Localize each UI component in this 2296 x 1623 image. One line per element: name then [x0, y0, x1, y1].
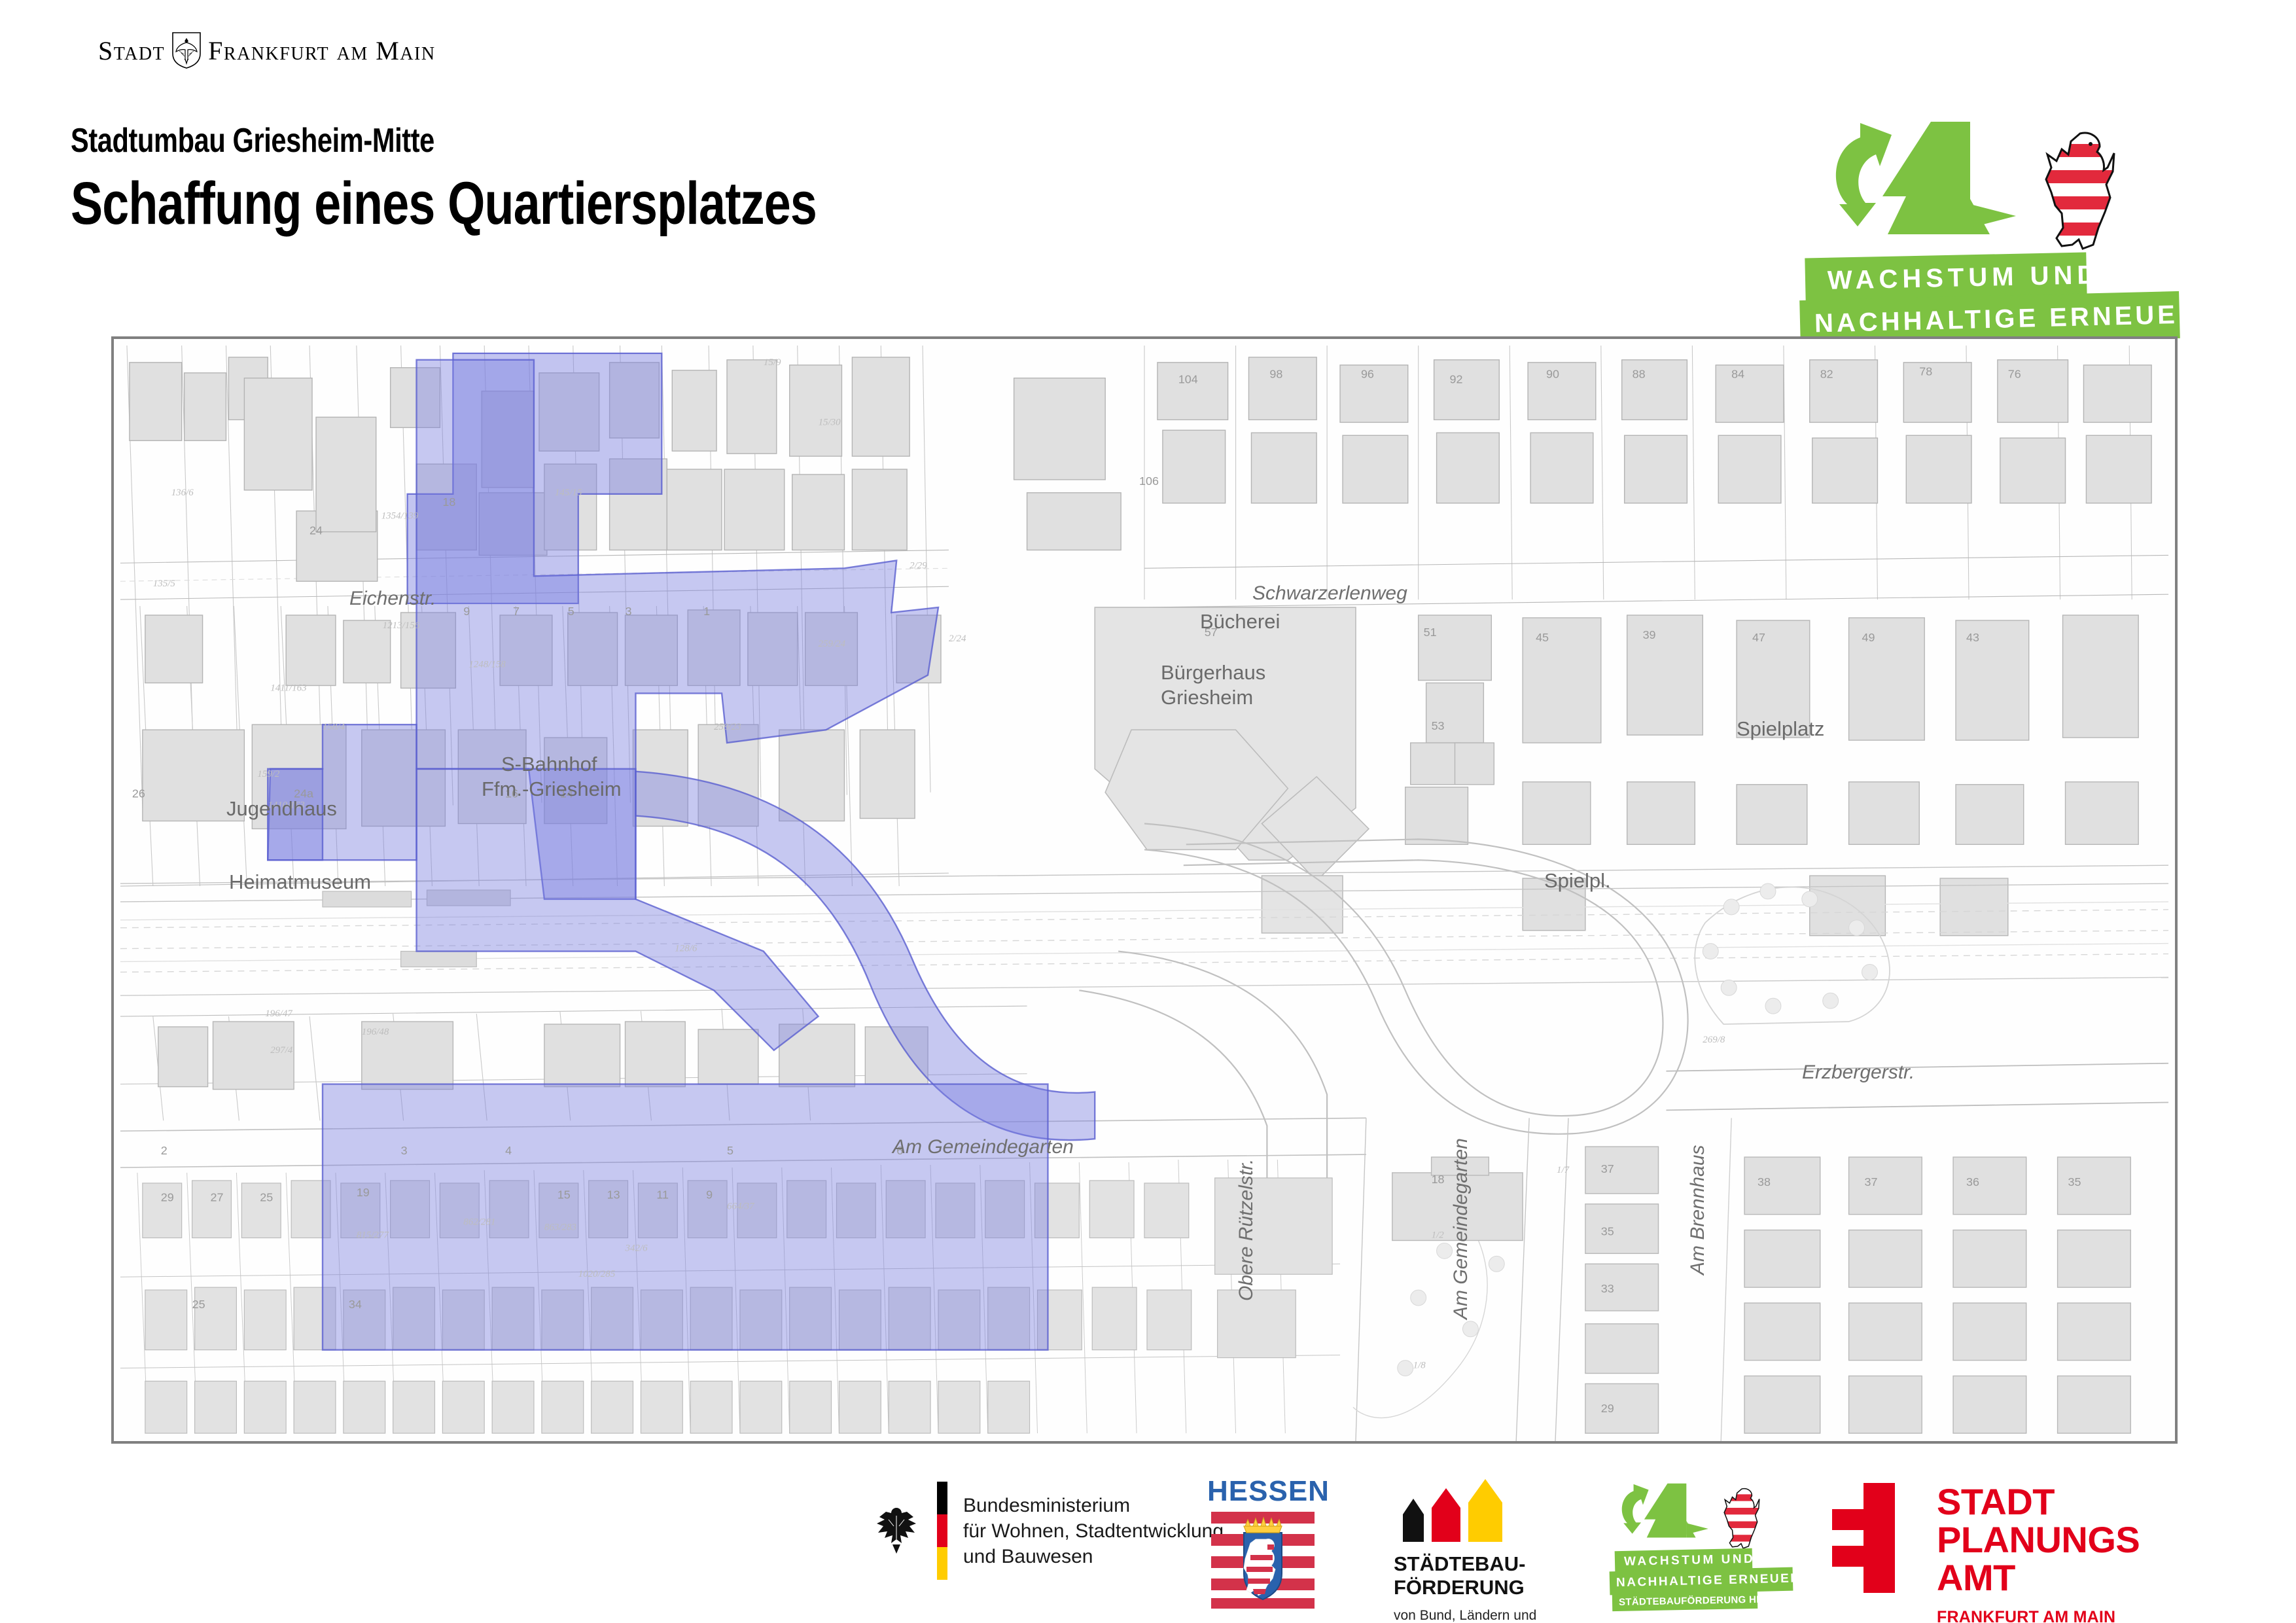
- stadtplanungsamt-logo: STADT PLANUNGS AMT FRANKFURT AM MAIN: [1832, 1483, 2140, 1623]
- frankfurt-eagle-crest-icon: [171, 31, 202, 69]
- stbf-line2: FÖRDERUNG: [1394, 1576, 1610, 1599]
- svg-text:19: 19: [357, 1186, 370, 1199]
- stadtplanungsamt-text: STADT PLANUNGS AMT FRANKFURT AM MAIN: [1937, 1483, 2140, 1623]
- svg-text:196/48: 196/48: [362, 1027, 389, 1037]
- svg-text:1020/285: 1020/285: [578, 1269, 616, 1279]
- svg-text:11: 11: [656, 1188, 669, 1202]
- svg-text:34: 34: [349, 1298, 362, 1311]
- svg-text:14: 14: [560, 787, 573, 800]
- svg-text:135/5: 135/5: [153, 579, 176, 589]
- svg-text:24a: 24a: [294, 787, 313, 800]
- svg-text:269/8: 269/8: [1703, 1035, 1725, 1045]
- svg-text:6: 6: [896, 1144, 903, 1157]
- hessen-wordmark: HESSEN: [1207, 1475, 1318, 1508]
- svg-text:25: 25: [192, 1298, 205, 1311]
- svg-text:98: 98: [1269, 368, 1282, 381]
- bmwsb-text: Bundesministerium für Wohnen, Stadtentwi…: [963, 1493, 1224, 1569]
- poster-page: Stadt Frankfurt am Main Stadtumbau Gries…: [0, 0, 2296, 1623]
- svg-text:33: 33: [1601, 1282, 1614, 1295]
- svg-text:863/283: 863/283: [544, 1222, 576, 1233]
- svg-text:1213/156: 1213/156: [383, 620, 420, 631]
- funding-logo-strip: Bundesministerium für Wohnen, Stadtentwi…: [0, 1467, 2296, 1623]
- svg-text:18: 18: [442, 495, 455, 508]
- three-houses-icon: [1394, 1479, 1610, 1542]
- svg-text:5: 5: [727, 1144, 733, 1157]
- bmwsb-line1: Bundesministerium: [963, 1493, 1224, 1518]
- spa-line3: AMT: [1937, 1559, 2140, 1597]
- svg-text:1411/163: 1411/163: [270, 683, 306, 693]
- city-logo: Stadt Frankfurt am Main: [98, 31, 436, 69]
- svg-text:92: 92: [1450, 373, 1463, 386]
- bmwsb-line2: für Wohnen, Stadtentwicklung: [963, 1518, 1224, 1544]
- svg-text:1354/139: 1354/139: [381, 511, 419, 522]
- page-kicker: Stadtumbau Griesheim-Mitte: [71, 121, 817, 160]
- hessen-lion-icon: [1722, 1487, 1763, 1551]
- svg-text:664/37: 664/37: [727, 1202, 754, 1212]
- svg-text:37: 37: [1601, 1162, 1614, 1175]
- svg-text:51: 51: [1424, 626, 1437, 639]
- svg-text:16: 16: [505, 787, 518, 800]
- hessen-state-logo: HESSEN: [1207, 1475, 1318, 1610]
- spa-line1: STADT: [1937, 1483, 2140, 1521]
- svg-text:78: 78: [1919, 365, 1932, 378]
- svg-text:1/8: 1/8: [1413, 1361, 1426, 1371]
- hessen-badge-sm-line3: STÄDTEBAUFÖRDERUNG HESSEN: [1612, 1590, 1757, 1611]
- bundesadler-icon: [872, 1503, 921, 1559]
- staedtebaufoerderung-logo: STÄDTEBAU- FÖRDERUNG von Bund, Ländern u…: [1394, 1479, 1610, 1623]
- german-flag-bar-icon: [937, 1482, 947, 1580]
- svg-text:18: 18: [1432, 1173, 1445, 1186]
- svg-text:29: 29: [161, 1191, 174, 1204]
- svg-text:104: 104: [1178, 373, 1198, 386]
- svg-text:1/7: 1/7: [1557, 1165, 1570, 1175]
- svg-text:82: 82: [1820, 368, 1833, 381]
- svg-text:96: 96: [1361, 368, 1374, 381]
- svg-text:2/24: 2/24: [949, 633, 966, 644]
- svg-text:3: 3: [401, 1144, 408, 1157]
- hessen-funding-badge-small: WACHSTUM UND NACHHALTIGE ERNEUERUNG STÄD…: [1610, 1482, 1819, 1606]
- stadtplanungsamt-block-icon: [1832, 1483, 1911, 1593]
- svg-text:815/277: 815/277: [357, 1230, 389, 1240]
- svg-text:15/30: 15/30: [819, 417, 841, 427]
- hessen-coat-of-arms-icon: [1207, 1510, 1318, 1610]
- svg-text:26: 26: [132, 787, 145, 800]
- page-title: Schaffung eines Quartiersplatzes: [71, 169, 817, 238]
- svg-text:2: 2: [161, 1144, 168, 1157]
- svg-text:145/15: 145/15: [555, 488, 582, 498]
- svg-text:136/6: 136/6: [171, 488, 194, 498]
- svg-text:1248/158: 1248/158: [468, 660, 506, 670]
- svg-text:1410/163: 1410/163: [268, 800, 304, 811]
- svg-text:38: 38: [1757, 1175, 1771, 1188]
- stbf-sub1: von Bund, Ländern und: [1394, 1607, 1610, 1623]
- svg-text:297/4: 297/4: [270, 1045, 293, 1056]
- green-arrow-tree-icon: [1614, 1482, 1718, 1560]
- svg-text:37: 37: [1865, 1175, 1878, 1188]
- svg-text:47: 47: [1752, 631, 1765, 644]
- svg-text:2/29: 2/29: [910, 560, 927, 571]
- svg-text:259/24: 259/24: [819, 639, 846, 649]
- svg-text:27: 27: [211, 1191, 224, 1204]
- svg-text:862/281: 862/281: [463, 1217, 495, 1228]
- city-logo-text-right: Frankfurt am Main: [208, 35, 435, 66]
- bmwsb-line3: und Bauwesen: [963, 1544, 1224, 1569]
- svg-text:90: 90: [1546, 368, 1559, 381]
- cadastral-map[interactable]: 136/6135/5 1354/139145/15 1411/1631410/1…: [111, 336, 2178, 1444]
- svg-text:7: 7: [513, 605, 520, 618]
- svg-text:9: 9: [463, 605, 470, 618]
- svg-text:35: 35: [2068, 1175, 2081, 1188]
- svg-text:88: 88: [1633, 368, 1646, 381]
- svg-text:4: 4: [505, 1144, 512, 1157]
- svg-text:196/47: 196/47: [265, 1008, 292, 1019]
- svg-text:36: 36: [1966, 1175, 1979, 1188]
- svg-text:29: 29: [1601, 1402, 1614, 1415]
- hessen-lion-icon: [2042, 130, 2121, 254]
- svg-text:259/23: 259/23: [714, 722, 741, 732]
- spa-sub: FRANKFURT AM MAIN: [1937, 1608, 2140, 1623]
- svg-text:43: 43: [1966, 631, 1979, 644]
- svg-text:57: 57: [1205, 626, 1218, 639]
- svg-text:15/9: 15/9: [764, 357, 781, 368]
- stbf-line1: STÄDTEBAU-: [1394, 1552, 1610, 1576]
- svg-text:158/4: 158/4: [323, 722, 345, 732]
- svg-text:3: 3: [626, 605, 632, 618]
- svg-text:159/2: 159/2: [257, 769, 280, 779]
- bmwsb-logo: Bundesministerium für Wohnen, Stadtentwi…: [872, 1482, 1224, 1580]
- spa-line2: PLANUNGS: [1937, 1521, 2140, 1559]
- svg-text:1/2: 1/2: [1432, 1230, 1445, 1240]
- svg-text:15: 15: [557, 1188, 571, 1202]
- svg-text:9: 9: [706, 1188, 713, 1202]
- svg-text:24: 24: [309, 524, 323, 537]
- svg-text:39: 39: [1643, 628, 1656, 641]
- svg-text:25: 25: [260, 1191, 273, 1204]
- title-block: Stadtumbau Griesheim-Mitte Schaffung ein…: [71, 121, 1003, 238]
- svg-text:1: 1: [703, 605, 710, 618]
- city-logo-text-left: Stadt: [98, 35, 165, 66]
- map-canvas: 136/6135/5 1354/139145/15 1411/1631410/1…: [114, 339, 2175, 1441]
- svg-text:53: 53: [1432, 719, 1445, 732]
- svg-text:128/6: 128/6: [675, 944, 698, 954]
- svg-text:342/6: 342/6: [625, 1243, 648, 1253]
- svg-text:35: 35: [1601, 1225, 1614, 1238]
- svg-text:45: 45: [1536, 631, 1549, 644]
- svg-text:84: 84: [1731, 368, 1744, 381]
- svg-text:76: 76: [2008, 368, 2021, 381]
- svg-text:5: 5: [568, 605, 574, 618]
- svg-text:106: 106: [1139, 474, 1159, 488]
- svg-text:49: 49: [1862, 631, 1875, 644]
- svg-text:13: 13: [607, 1188, 620, 1202]
